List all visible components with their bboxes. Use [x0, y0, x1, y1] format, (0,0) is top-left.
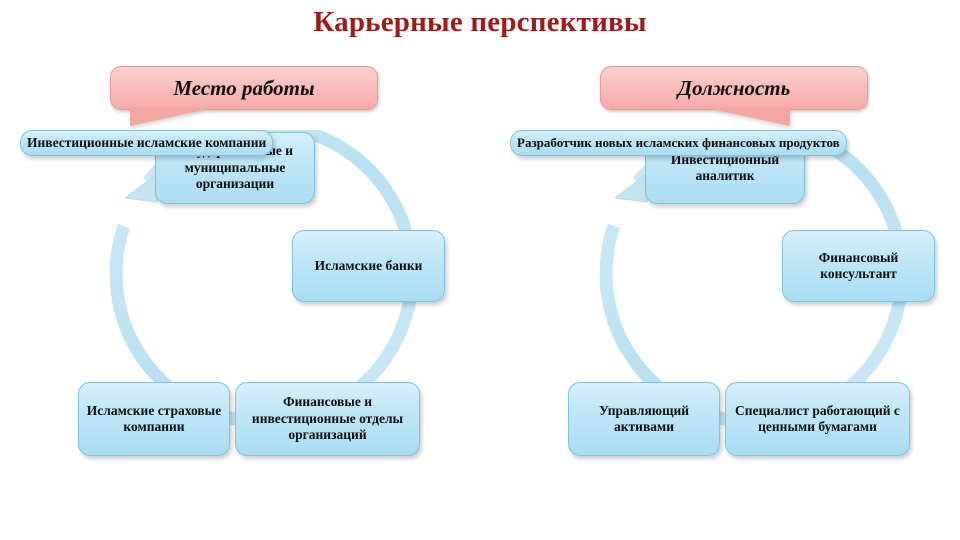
cycle-diagram-workplace: Государственные и муниципальные организа…: [20, 130, 460, 490]
node-product-developer[interactable]: Разработчик новых исламских финансовых п…: [510, 130, 847, 156]
banner-workplace: Место работы: [110, 66, 378, 110]
banner-workplace-label: Место работы: [173, 76, 314, 101]
node-fin-inv-departments[interactable]: Финансовые и инвестиционные отделы орган…: [235, 382, 420, 456]
node-investment-islamic[interactable]: Инвестиционные исламские компании: [20, 130, 273, 156]
node-label: Специалист работающий с ценными бумагами: [732, 403, 903, 436]
cycle-diagram-position: Инвестиционный аналитик Финансовый консу…: [510, 130, 950, 490]
banner-position-label: Должность: [678, 76, 791, 101]
node-asset-manager[interactable]: Управляющий активами: [568, 382, 720, 456]
node-financial-consultant[interactable]: Финансовый консультант: [782, 230, 935, 302]
banner-workplace-tail: [130, 109, 208, 126]
node-islamic-banks[interactable]: Исламские банки: [292, 230, 445, 302]
node-label: Инвестиционный аналитик: [652, 152, 798, 185]
node-label: Разработчик новых исламских финансовых п…: [517, 135, 840, 151]
banner-position: Должность: [600, 66, 868, 110]
page-title: Карьерные перспективы: [0, 6, 960, 39]
node-label: Управляющий активами: [575, 403, 713, 436]
node-label: Финансовый консультант: [789, 250, 928, 283]
node-label: Инвестиционные исламские компании: [27, 135, 266, 151]
node-label: Финансовые и инвестиционные отделы орган…: [242, 394, 413, 443]
node-label: Исламские страховые компании: [85, 403, 223, 436]
node-label: Исламские банки: [315, 258, 423, 274]
slide-canvas: Карьерные перспективы Место работы Должн…: [0, 0, 960, 540]
banner-position-tail: [712, 109, 790, 126]
node-securities-specialist[interactable]: Специалист работающий с ценными бумагами: [725, 382, 910, 456]
node-islamic-insurance[interactable]: Исламские страховые компании: [78, 382, 230, 456]
